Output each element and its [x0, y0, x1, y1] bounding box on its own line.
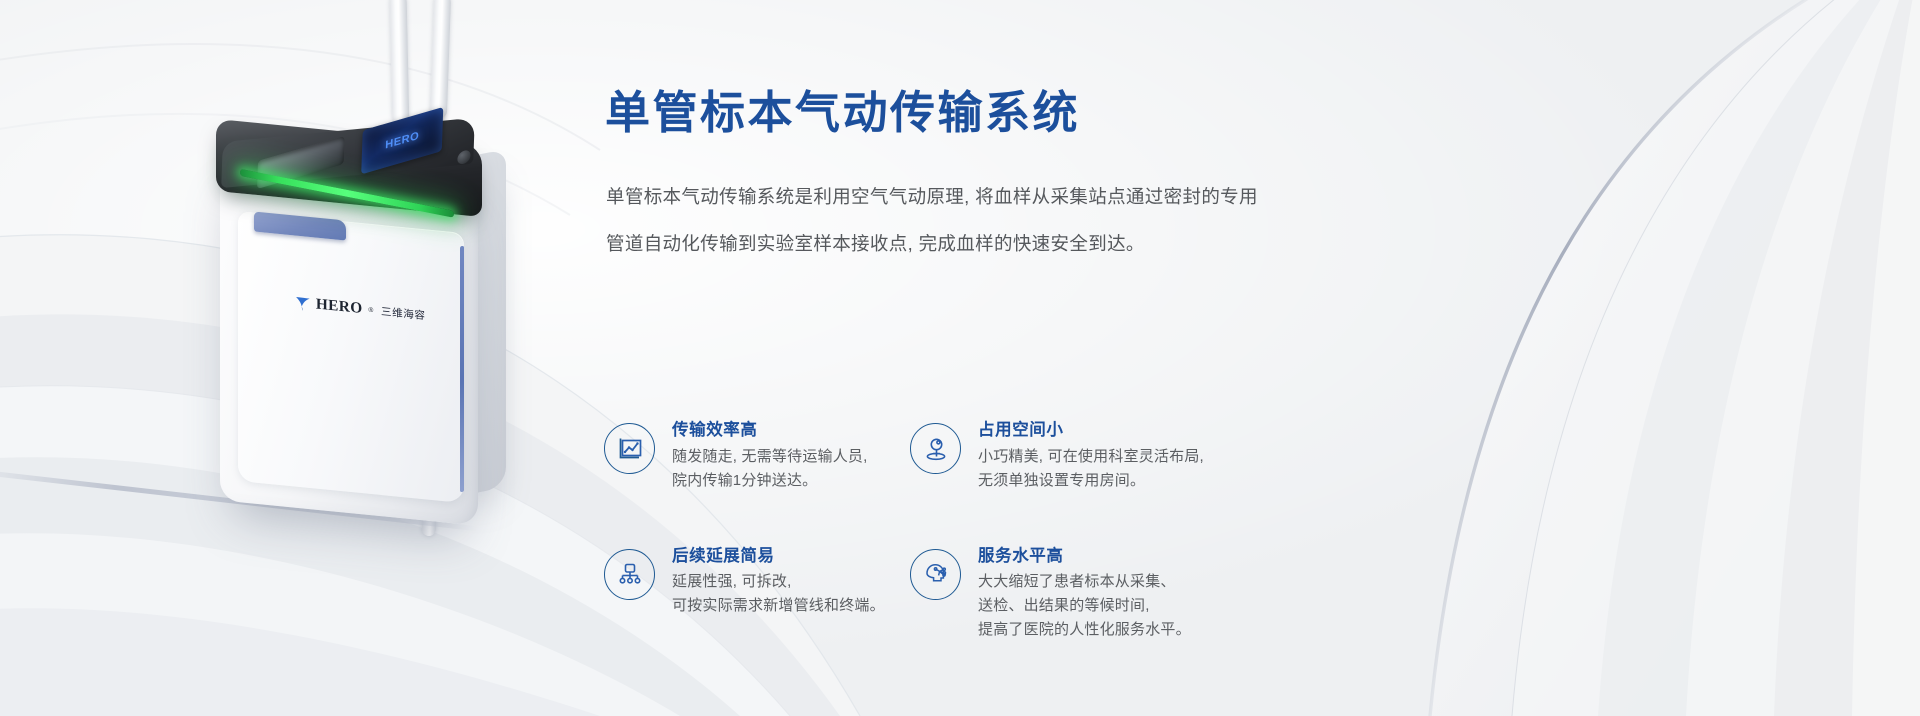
feature-desc-line: 可按实际需求新增管线和终端。 [672, 594, 885, 618]
brand-registered-mark: ® [368, 306, 373, 313]
feature-text: 占用空间小 小巧精美, 可在使用科室灵活布局, 无须单独设置专用房间。 [978, 420, 1204, 493]
feature-desc-line: 小巧精美, 可在使用科室灵活布局, [978, 445, 1204, 469]
feature-desc-line: 无须单独设置专用房间。 [978, 469, 1204, 493]
green-status-led [240, 169, 454, 218]
feature-item-transmission-efficiency: 传输效率高 随发随走, 无需等待运输人员, 院内传输1分钟送达。 [604, 420, 910, 493]
intro-paragraph: 单管标本气动传输系统是利用空气气动原理, 将血样从采集站点通过密封的专用管道自动… [606, 173, 1266, 267]
feature-desc-line: 送检、出结果的等候时间, [978, 594, 1191, 618]
feature-title: 后续延展简易 [672, 546, 885, 567]
feature-desc-line: 随发随走, 无需等待运输人员, [672, 445, 868, 469]
device-panel-blue-edge [460, 246, 464, 493]
feature-desc-line: 院内传输1分钟送达。 [672, 469, 868, 493]
feature-text: 传输效率高 随发随走, 无需等待运输人员, 院内传输1分钟送达。 [672, 420, 868, 493]
feature-item-space-saving: 占用空间小 小巧精美, 可在使用科室灵活布局, 无须单独设置专用房间。 [910, 420, 1240, 493]
product-photo: HERO HERO ® 三维海容 [0, 0, 600, 716]
feature-title: 服务水平高 [978, 546, 1191, 567]
chart-line-icon [604, 423, 655, 474]
feature-item-easy-expansion: 后续延展简易 延展性强, 可拆改, 可按实际需求新增管线和终端。 [604, 546, 910, 643]
pneumatic-station-device: HERO HERO ® 三维海容 [208, 118, 496, 522]
feature-row-1: 传输效率高 随发随走, 无需等待运输人员, 院内传输1分钟送达。 [604, 420, 1304, 493]
feature-row-2: 后续延展简易 延展性强, 可拆改, 可按实际需求新增管线和终端。 [604, 546, 1304, 643]
hero-leaf-icon [295, 295, 311, 311]
device-display-screen: HERO [361, 107, 443, 174]
device-knob [457, 149, 471, 166]
feature-title: 占用空间小 [978, 420, 1204, 441]
device-top-black-shell: HERO [216, 119, 482, 217]
network-tree-icon [604, 549, 655, 600]
pneumatic-tube-left [390, 0, 410, 124]
content-area: 单管标本气动传输系统 单管标本气动传输系统是利用空气气动原理, 将血样从采集站点… [604, 0, 1920, 716]
screen-logo-text: HERO [385, 130, 419, 152]
feature-item-service-level: 服务水平高 大大缩短了患者标本从采集、 送检、出结果的等候时间, 提高了医院的人… [910, 546, 1240, 643]
location-pin-icon [910, 423, 961, 474]
device-top-assembly: HERO [216, 118, 500, 214]
feature-desc-line: 大大缩短了患者标本从采集、 [978, 570, 1191, 594]
feature-title: 传输效率高 [672, 420, 868, 441]
pneumatic-tube-right [430, 0, 451, 119]
feature-text: 服务水平高 大大缩短了患者标本从采集、 送检、出结果的等候时间, 提高了医院的人… [978, 546, 1191, 643]
device-front-panel [238, 211, 464, 503]
page-title: 单管标本气动传输系统 [605, 90, 1080, 135]
ai-head-icon [910, 549, 961, 600]
brand-logo-chinese: 三维海容 [381, 303, 426, 323]
feature-desc-line: 延展性强, 可拆改, [672, 570, 885, 594]
feature-text: 后续延展简易 延展性强, 可拆改, 可按实际需求新增管线和终端。 [672, 546, 885, 619]
feature-desc-line: 提高了医院的人性化服务水平。 [978, 618, 1191, 642]
feature-grid: 传输效率高 随发随走, 无需等待运输人员, 院内传输1分钟送达。 [604, 420, 1304, 642]
